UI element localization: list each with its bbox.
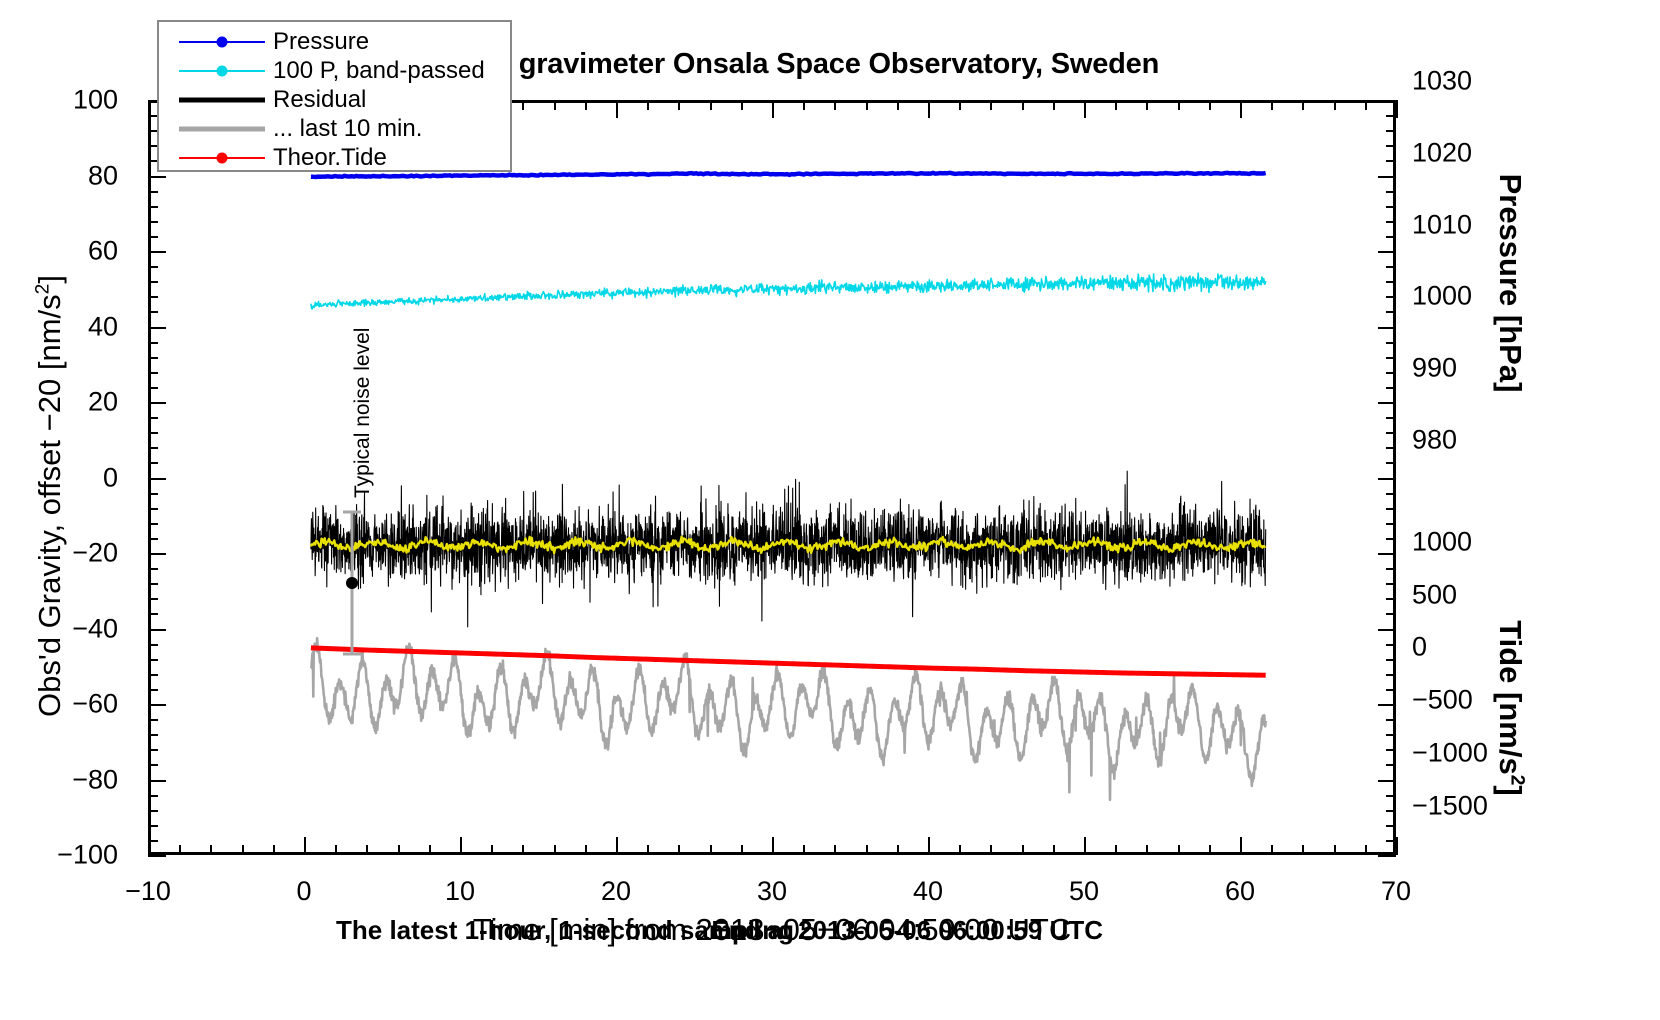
tickmark [554,845,556,855]
tickmark [1386,342,1396,344]
y-right-pressure-tick-1010: 1010 [1412,209,1472,240]
tickmark [148,583,158,585]
x-tick-30: 30 [757,876,787,907]
tickmark [959,100,961,110]
tickmark [1386,613,1396,615]
tickmark [1178,100,1180,110]
tickmark [1334,100,1336,110]
series-band-passed [311,273,1266,309]
tickmark [1386,221,1396,223]
tickmark [1386,191,1396,193]
y-left-tick-0: 0 [0,462,118,493]
tickmark [1386,160,1396,162]
x-tick-50: 50 [1069,876,1099,907]
legend-item-last-10-min[interactable]: ... last 10 min. [159,115,510,143]
tickmark [148,644,158,646]
y-right-tide-tick-0: 0 [1412,632,1427,663]
tickmark [803,100,805,110]
tickmark [1386,447,1396,449]
tickmark [1022,845,1024,855]
tickmark [710,845,712,855]
tickmark [1084,100,1086,118]
tickmark [1302,100,1304,110]
tickmark [1084,837,1086,855]
tickmark [148,281,158,283]
tickmark [148,719,158,721]
tickmark [242,845,244,855]
tickmark [585,100,587,110]
tickmark [1386,206,1396,208]
tickmark [1386,493,1396,495]
tickmark [1396,837,1398,855]
y-right-tide-tick--1500: −1500 [1412,790,1488,821]
tickmark [1386,538,1396,540]
tickmark [1386,130,1396,132]
tickmark [148,795,158,797]
tickmark [148,206,158,208]
tickmark [990,845,992,855]
tickmark [1365,845,1367,855]
tickmark [834,100,836,110]
tickmark [429,845,431,855]
tickmark [148,296,158,298]
tickmark [616,100,618,118]
legend-swatch-theor-tide-icon [179,147,265,169]
tickmark [148,191,158,193]
tickmark [335,845,337,855]
tickmark [1386,795,1396,797]
tickmark [148,311,158,313]
tickmark [1386,749,1396,751]
tickmark [1396,100,1398,118]
tickmark [148,840,158,842]
tickmark [460,837,462,855]
tickmark [148,432,158,434]
tickmark [1178,845,1180,855]
tickmark [491,845,493,855]
legend-swatch-residual-icon [179,89,265,111]
tickmark [148,221,158,223]
y-left-tick-20: 20 [0,387,118,418]
tickmark [1386,462,1396,464]
tickmark [148,598,158,600]
tickmark [741,100,743,110]
tickmark [148,810,158,812]
tickmark [1378,478,1396,480]
tickmark [1386,508,1396,510]
tickmark [866,845,868,855]
y-right-pressure-tick-1030: 1030 [1412,66,1472,97]
tickmark [866,100,868,110]
tickmark [522,100,524,110]
tickmark [1386,659,1396,661]
y-left-tick--80: −80 [0,764,118,795]
tickmark [148,357,158,359]
tickmark [1386,674,1396,676]
tickmark [1386,417,1396,419]
tickmark [148,523,158,525]
tickmark [148,176,166,178]
tickmark [1386,432,1396,434]
tickmark [304,837,306,855]
tickmark [148,629,166,631]
tickmark [1240,837,1242,855]
tickmark [616,837,618,855]
tickmark [148,478,166,480]
tickmark [1378,176,1396,178]
tickmark [1209,845,1211,855]
tickmark [1022,100,1024,110]
tickmark [148,553,166,555]
tickmark [678,100,680,110]
tickmark [1378,251,1396,253]
tickmark [1146,100,1148,110]
tickmark [148,538,158,540]
x-axis-title: Time [min] from 2013−05−06 04:59:00 UTC [148,912,1396,948]
tickmark [148,387,158,389]
tickmark [741,845,743,855]
legend-label: Pressure [265,28,369,56]
tickmark [148,417,158,419]
tickmark [772,837,774,855]
legend-label: Residual [265,86,366,114]
y-right-pressure-tick-1020: 1020 [1412,137,1472,168]
tickmark [1334,845,1336,855]
y-right-tide-tick--500: −500 [1412,685,1473,716]
tickmark [1386,266,1396,268]
tickmark [148,674,158,676]
tickmark [1378,780,1396,782]
tickmark [148,734,158,736]
series-canvas [151,103,1393,852]
x-tick-70: 70 [1381,876,1411,907]
tickmark [772,100,774,118]
x-tick--10: −10 [125,876,171,907]
legend-swatch-band-passed-icon [179,60,265,82]
typical-noise-level-label: Typical noise level [351,328,375,498]
tickmark [1378,629,1396,631]
tickmark [1386,810,1396,812]
tickmark [585,845,587,855]
tickmark [148,508,158,510]
tickmark [1386,523,1396,525]
tickmark [1386,734,1396,736]
tickmark [1378,553,1396,555]
y-left-tick--20: −20 [0,538,118,569]
legend-label: 100 P, band-passed [265,57,485,85]
tickmark [148,689,158,691]
tickmark [1386,296,1396,298]
tickmark [1378,855,1396,857]
tickmark [1386,115,1396,117]
tickmark [1386,281,1396,283]
y-left-tick-100: 100 [0,85,118,116]
legend-swatch-last-10-min-icon [179,118,265,140]
legend-label: ... last 10 min. [265,115,422,143]
tickmark [148,825,158,827]
tickmark [148,659,158,661]
tickmark [1386,689,1396,691]
tickmark [148,251,166,253]
tickmark [1378,100,1396,102]
typical-noise-level-marker [341,508,363,658]
y-left-tick--40: −40 [0,613,118,644]
tickmark [1386,583,1396,585]
series-pressure [311,173,1266,177]
plot-area: Typical noise level The latest 1-hour, 1… [148,100,1396,855]
tickmark [647,100,649,110]
tickmark [928,837,930,855]
tickmark [366,845,368,855]
tickmark [1209,100,1211,110]
tickmark [522,845,524,855]
x-tick-60: 60 [1225,876,1255,907]
y-left-tick-60: 60 [0,236,118,267]
tickmark [1240,100,1242,118]
tickmark [148,266,158,268]
tickmark [1386,568,1396,570]
tickmark [1386,764,1396,766]
tickmark [148,402,166,404]
x-tick-40: 40 [913,876,943,907]
x-tick-10: 10 [445,876,475,907]
tickmark [148,568,158,570]
legend-item-band-passed[interactable]: 100 P, band-passed [159,57,510,85]
y-axis-right-pressure-title: Pressure [hPa] [1492,68,1528,498]
tickmark [1271,100,1273,110]
tickmark [678,845,680,855]
x-tick-0: 0 [296,876,311,907]
y-right-tide-tick-1000: 1000 [1412,526,1472,557]
y-right-pressure-tick-980: 980 [1412,424,1457,455]
tickmark [1386,840,1396,842]
tickmark [148,372,158,374]
tickmark [1386,598,1396,600]
tickmark [1271,845,1273,855]
tickmark [1378,704,1396,706]
y-left-tick-80: 80 [0,160,118,191]
tickmark [897,100,899,110]
tickmark [1378,402,1396,404]
tickmark [148,327,166,329]
tickmark [1302,845,1304,855]
tickmark [928,100,930,118]
tickmark [148,342,158,344]
tickmark [803,845,805,855]
tickmark [1386,372,1396,374]
tickmark [1386,357,1396,359]
tickmark [834,845,836,855]
tickmark [897,845,899,855]
tickmark [148,749,158,751]
tickmark [1386,311,1396,313]
tickmark [1115,845,1117,855]
tickmark [273,845,275,855]
tickmark [148,462,158,464]
legend-swatch-pressure-icon [179,31,265,53]
tickmark [148,855,166,857]
y-left-tick-40: 40 [0,311,118,342]
y-right-tide-tick--1000: −1000 [1412,738,1488,769]
tickmark [1378,327,1396,329]
legend-label: Theor.Tide [265,144,387,172]
legend[interactable]: Pressure 100 P, band-passed Residual ...… [157,20,512,172]
tickmark [1386,644,1396,646]
tickmark [179,845,181,855]
y-left-tick--100: −100 [0,840,118,871]
tickmark [398,845,400,855]
tickmark [990,100,992,110]
tickmark [1146,845,1148,855]
x-tick-20: 20 [601,876,631,907]
tickmark [148,704,166,706]
tickmark [647,845,649,855]
tickmark [554,100,556,110]
tickmark [1053,845,1055,855]
tickmark [710,100,712,110]
tickmark [148,613,158,615]
tickmark [1053,100,1055,110]
tickmark [1386,145,1396,147]
tickmark [148,447,158,449]
tickmark [1115,100,1117,110]
tickmark [1386,719,1396,721]
tickmark [959,845,961,855]
legend-item-residual[interactable]: Residual [159,86,510,114]
y-left-tick--60: −60 [0,689,118,720]
tickmark [148,236,158,238]
tickmark [1386,236,1396,238]
tickmark [148,764,158,766]
tickmark [148,780,166,782]
y-right-pressure-tick-990: 990 [1412,353,1457,384]
legend-item-theor-tide[interactable]: Theor.Tide [159,144,510,172]
plot-clip [151,103,1393,852]
y-axis-right-tide-title: Tide [nm/s2] [1492,498,1528,918]
y-right-tide-tick-500: 500 [1412,579,1457,610]
tickmark [1386,387,1396,389]
tickmark [210,845,212,855]
legend-item-pressure[interactable]: Pressure [159,28,510,56]
tickmark [148,493,158,495]
tickmark [1386,825,1396,827]
tickmark [1365,100,1367,110]
y-right-pressure-tick-1000: 1000 [1412,281,1472,312]
